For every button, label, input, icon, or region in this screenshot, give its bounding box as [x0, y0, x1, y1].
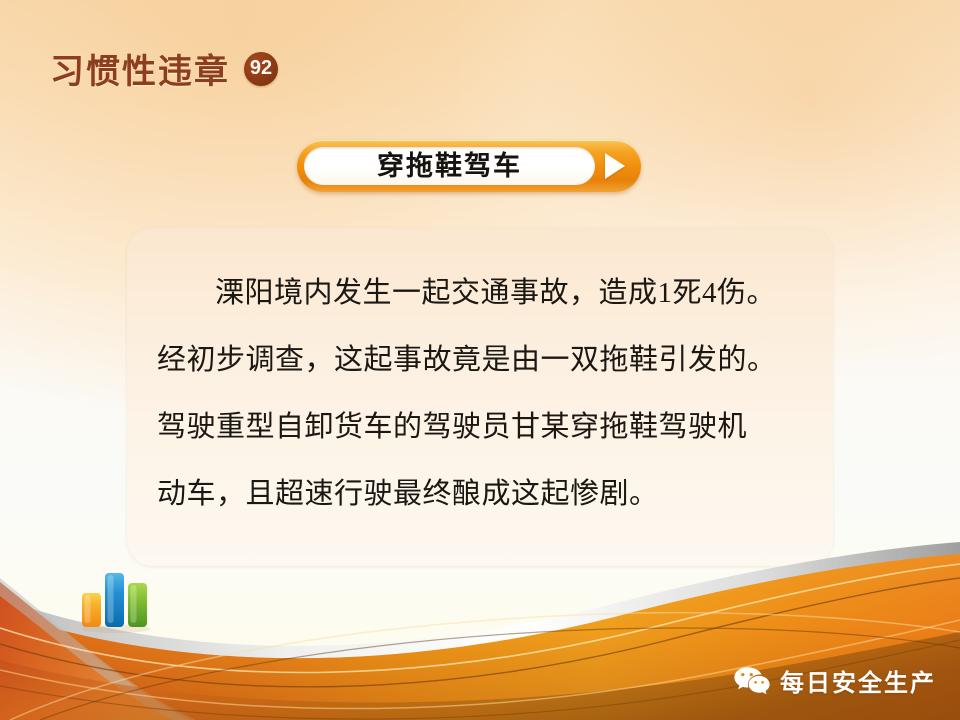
content-line: 经初步调查，这起事故竟是由一双拖鞋引发的。 [157, 327, 807, 394]
content-card-body: 溧阳境内发生一起交通事故，造成1死4伤。 经初步调查，这起事故竟是由一双拖鞋引发… [157, 260, 807, 528]
topic-pill-label: 穿拖鞋驾车 [377, 153, 522, 180]
status-badge: 92 [244, 52, 278, 86]
watermark: 每日安全生产 [733, 663, 936, 698]
play-triangle-icon[interactable] [595, 153, 635, 179]
content-line: 驾驶重型自卸货车的驾驶员甘某穿拖鞋驾驶机 [157, 394, 807, 461]
content-line: 溧阳境内发生一起交通事故，造成1死4伤。 [157, 260, 807, 327]
slide-canvas: 习惯性违章 92 穿拖鞋驾车 溧阳境内发生一起交通事故，造成1死4伤。 经初步调… [0, 0, 960, 720]
topic-pill-inner: 穿拖鞋驾车 [304, 147, 595, 185]
content-line: 动车，且超速行驶最终酿成这起惨剧。 [157, 461, 807, 528]
topic-pill[interactable]: 穿拖鞋驾车 [297, 140, 641, 192]
bar-chart-icon [80, 571, 152, 633]
page-title: 习惯性违章 92 [50, 44, 278, 93]
content-card: 溧阳境内发生一起交通事故，造成1死4伤。 经初步调查，这起事故竟是由一双拖鞋引发… [127, 228, 833, 566]
watermark-label: 每日安全生产 [780, 663, 936, 698]
page-title-text: 习惯性违章 [50, 44, 230, 93]
wechat-icon [733, 666, 771, 696]
